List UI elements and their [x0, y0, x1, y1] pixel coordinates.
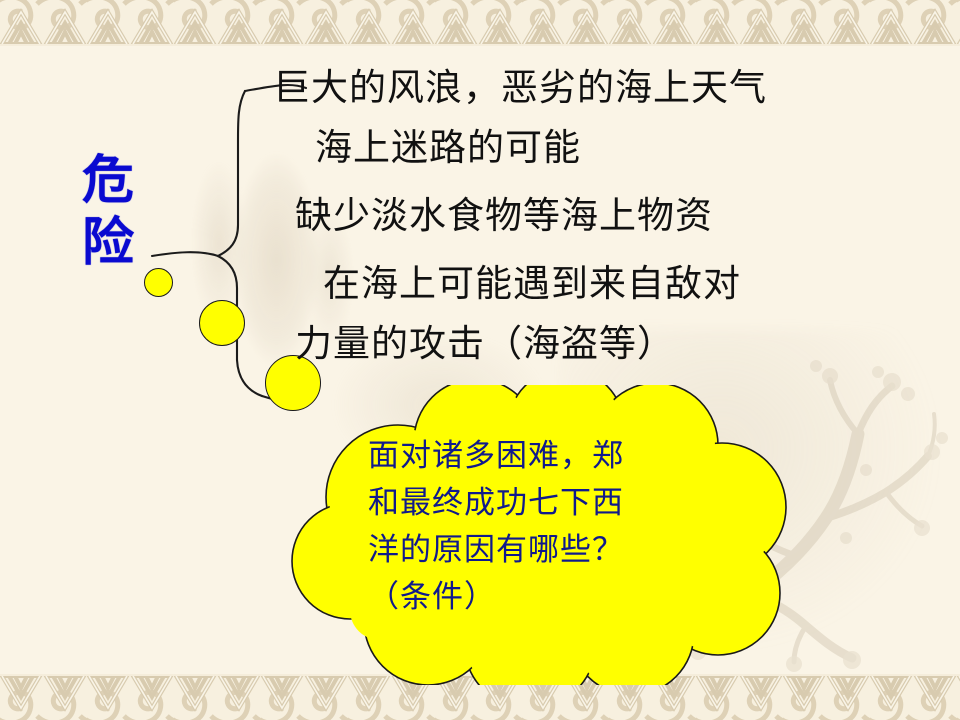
risk-list: 巨大的风浪，恶劣的海上天气 海上迷路的可能 缺少淡水食物等海上物资 在海上可能遇…: [255, 58, 955, 374]
risk-line-2: 海上迷路的可能: [255, 118, 955, 178]
page-title: 危 险: [82, 150, 172, 274]
cloud-callout: 面对诸多困难，郑 和最终成功七下西 洋的原因有哪些？ （条件）: [280, 385, 800, 685]
risk-line-4: 在海上可能遇到来自敌对: [255, 254, 955, 314]
risk-line-1: 巨大的风浪，恶劣的海上天气: [255, 58, 955, 118]
bullet-dot-small: [144, 268, 173, 297]
bullet-dot-mid: [199, 300, 245, 346]
slide-canvas: 危 险 巨大的风浪，恶劣的海上天气 海上迷路的可能 缺少淡水食物等海上物资 在海…: [0, 0, 960, 720]
risk-line-5: 力量的攻击（海盗等）: [255, 314, 955, 374]
risk-line-3: 缺少淡水食物等海上物资: [255, 186, 955, 246]
callout-text: 面对诸多困难，郑 和最终成功七下西 洋的原因有哪些？ （条件）: [368, 433, 728, 621]
top-decorative-border: [0, 0, 960, 46]
